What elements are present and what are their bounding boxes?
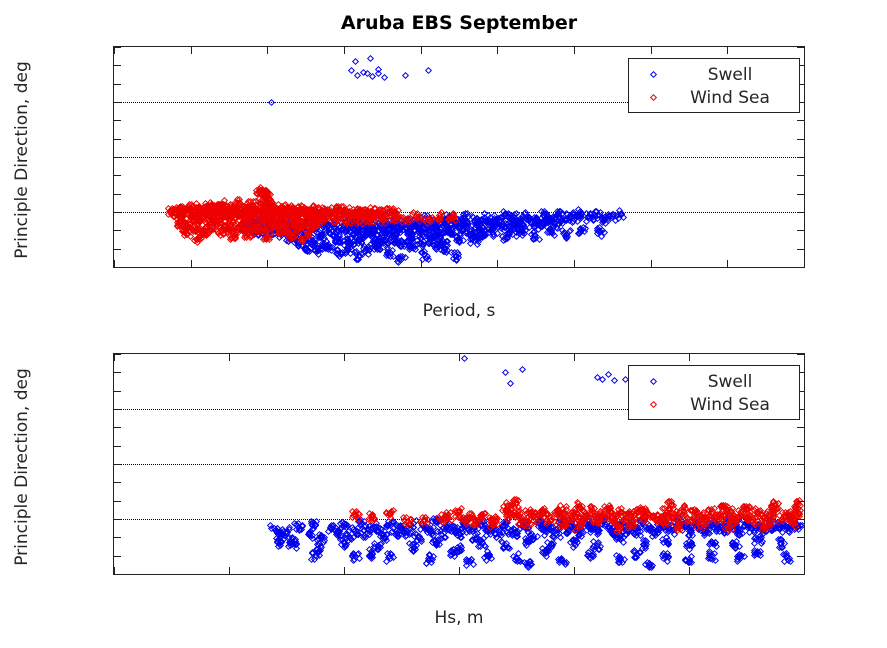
data-point [276, 234, 283, 241]
data-point [641, 541, 648, 548]
data-point [231, 224, 238, 231]
data-point [367, 232, 374, 239]
data-point [308, 241, 315, 248]
data-point [581, 228, 588, 235]
data-point [290, 235, 297, 242]
data-point [478, 216, 485, 223]
data-point [615, 211, 622, 218]
data-point [668, 526, 675, 533]
data-point [199, 214, 206, 221]
data-point [257, 217, 264, 224]
data-point [630, 529, 637, 536]
data-point [674, 518, 681, 525]
data-point [408, 244, 415, 251]
data-point [422, 222, 429, 229]
data-point [590, 216, 597, 223]
data-point [701, 514, 708, 521]
data-point [601, 216, 608, 223]
legend-top[interactable]: Swell Wind Sea [628, 58, 800, 113]
data-point [306, 208, 313, 215]
data-point [545, 544, 552, 551]
data-point [279, 222, 286, 229]
data-point [419, 232, 426, 239]
data-point [504, 516, 511, 523]
data-point [283, 237, 290, 244]
data-point [622, 511, 629, 518]
data-point [457, 230, 464, 237]
data-point [282, 214, 289, 221]
data-point [693, 522, 700, 529]
data-point [605, 510, 612, 517]
data-point [251, 206, 258, 213]
data-point [278, 207, 285, 214]
data-point [310, 238, 317, 245]
data-point [666, 527, 673, 534]
data-point [470, 561, 477, 568]
data-point [372, 244, 379, 251]
data-point [230, 227, 237, 234]
data-point [570, 540, 577, 547]
data-point [395, 237, 402, 244]
data-point [351, 219, 358, 226]
data-point [473, 519, 480, 526]
data-point [236, 196, 243, 203]
data-point [340, 540, 347, 547]
data-point [711, 518, 718, 525]
data-point [608, 529, 615, 536]
data-point [528, 219, 535, 226]
data-point [259, 229, 266, 236]
data-point [334, 532, 341, 539]
data-point [605, 524, 612, 531]
data-point [258, 209, 265, 216]
data-point [362, 208, 369, 215]
data-point [500, 519, 507, 526]
data-point [753, 550, 760, 557]
data-point [724, 522, 731, 529]
data-point [491, 215, 498, 222]
data-point [493, 220, 500, 227]
data-point [593, 518, 600, 525]
data-point [313, 209, 320, 216]
data-point [301, 207, 308, 214]
data-point [445, 225, 452, 232]
data-point [266, 206, 273, 213]
data-point [333, 529, 340, 536]
data-point [609, 524, 616, 531]
data-point [264, 216, 271, 223]
data-point [674, 521, 681, 528]
data-point [450, 526, 457, 533]
data-point [348, 216, 355, 223]
data-point [380, 218, 387, 225]
data-point [706, 530, 713, 537]
data-point [274, 528, 281, 535]
data-point [710, 524, 717, 531]
data-point [516, 507, 523, 514]
data-point [332, 224, 339, 231]
data-point [251, 231, 258, 238]
data-point [204, 202, 211, 209]
data-point [353, 256, 360, 263]
data-point [262, 210, 269, 217]
data-point [588, 526, 595, 533]
data-point [418, 219, 425, 226]
data-point [486, 551, 493, 558]
data-point [712, 511, 719, 518]
data-point [307, 533, 314, 540]
data-point [341, 220, 348, 227]
data-point [654, 521, 661, 528]
data-point [615, 559, 622, 566]
data-point [368, 233, 375, 240]
data-point [404, 529, 411, 536]
data-point [324, 206, 331, 213]
data-point [210, 212, 217, 219]
data-point [580, 528, 587, 535]
data-point [303, 207, 310, 214]
data-point [443, 238, 450, 245]
data-point [501, 212, 508, 219]
data-point [426, 219, 433, 226]
data-point [283, 530, 290, 537]
data-point [404, 239, 411, 246]
data-point [225, 226, 232, 233]
data-point [279, 208, 286, 215]
data-point [270, 210, 277, 217]
data-point [345, 537, 352, 544]
data-point [327, 524, 334, 531]
data-point [485, 226, 492, 233]
data-point [237, 200, 244, 207]
data-point [288, 236, 295, 243]
data-point [613, 212, 620, 219]
data-point [341, 206, 348, 213]
data-point [517, 222, 524, 229]
data-point [348, 235, 355, 242]
data-point [290, 232, 297, 239]
data-point [182, 229, 189, 236]
data-point [268, 232, 275, 239]
data-point [559, 220, 566, 227]
data-point [295, 217, 302, 224]
data-point [184, 224, 191, 231]
data-point [708, 539, 715, 546]
data-point [561, 216, 568, 223]
data-point [321, 213, 328, 220]
data-point [759, 538, 766, 545]
data-point [187, 233, 194, 240]
data-point [544, 539, 551, 546]
data-point [565, 526, 572, 533]
data-point [759, 524, 766, 531]
data-point [409, 220, 416, 227]
data-point [735, 552, 742, 559]
data-point [335, 251, 342, 258]
data-point [345, 246, 352, 253]
data-point [259, 205, 266, 212]
data-point [247, 228, 254, 235]
data-point [204, 214, 211, 221]
data-point [210, 205, 217, 212]
data-point [310, 220, 317, 227]
data-point [565, 529, 572, 536]
data-point [422, 216, 429, 223]
data-point [349, 514, 356, 521]
data-point [386, 221, 393, 228]
data-point [499, 507, 506, 514]
data-point [275, 529, 282, 536]
data-point [375, 546, 382, 553]
data-point [777, 515, 784, 522]
data-point [387, 217, 394, 224]
data-point [434, 528, 441, 535]
data-point [440, 216, 447, 223]
data-point [322, 208, 329, 215]
data-point [608, 528, 615, 535]
data-point [493, 513, 500, 520]
data-point [281, 212, 288, 219]
data-point [547, 218, 554, 225]
data-point [365, 209, 372, 216]
data-point [245, 207, 252, 214]
data-point [417, 219, 424, 226]
data-point [173, 210, 180, 217]
data-point [575, 206, 582, 213]
data-point [291, 214, 298, 221]
data-point [183, 206, 190, 213]
data-point [654, 527, 661, 534]
data-point [294, 218, 301, 225]
data-point [559, 215, 566, 222]
data-point [585, 213, 592, 220]
data-point [262, 213, 269, 220]
data-point [217, 204, 224, 211]
data-point [178, 222, 185, 229]
data-point [235, 213, 242, 220]
data-point [665, 505, 672, 512]
data-point [384, 250, 391, 257]
data-point [426, 215, 433, 222]
data-point [307, 214, 314, 221]
data-point [194, 236, 201, 243]
data-point [539, 508, 546, 515]
data-point [254, 206, 261, 213]
data-point [377, 544, 384, 551]
data-point [295, 211, 302, 218]
data-point [323, 213, 330, 220]
data-point [282, 223, 289, 230]
data-point [212, 209, 219, 216]
data-point [475, 217, 482, 224]
data-point [405, 240, 412, 247]
data-point [298, 230, 305, 237]
data-point [436, 522, 443, 529]
data-point [408, 546, 415, 553]
data-point [594, 228, 601, 235]
data-point [308, 214, 315, 221]
data-point [640, 518, 647, 525]
data-point [483, 219, 490, 226]
data-point [638, 508, 645, 515]
data-point [245, 208, 252, 215]
data-point [729, 540, 736, 547]
data-point [415, 221, 422, 228]
data-point [410, 548, 417, 555]
data-point [548, 527, 555, 534]
data-point [716, 516, 723, 523]
y-tick-0 [114, 267, 121, 268]
data-point [278, 232, 285, 239]
data-point [665, 525, 672, 532]
data-point [372, 213, 379, 220]
data-point [602, 511, 609, 518]
data-point [341, 216, 348, 223]
data-point [754, 521, 761, 528]
data-point [579, 516, 586, 523]
data-point [595, 546, 602, 553]
data-point [588, 505, 595, 512]
data-point [472, 536, 479, 543]
data-point [233, 220, 240, 227]
data-point [370, 230, 377, 237]
data-point [454, 236, 461, 243]
data-point [329, 525, 336, 532]
data-point [331, 232, 338, 239]
data-point [789, 520, 796, 527]
data-point [384, 223, 391, 230]
data-point [361, 523, 368, 530]
data-point [544, 512, 551, 519]
data-point [244, 203, 251, 210]
data-point [426, 551, 433, 558]
data-point [268, 216, 275, 223]
data-point [524, 537, 531, 544]
data-point [499, 221, 506, 228]
data-point [593, 515, 600, 522]
data-point [213, 226, 220, 233]
data-point [233, 210, 240, 217]
data-point [233, 200, 240, 207]
data-point [294, 210, 301, 217]
data-point [237, 208, 244, 215]
data-point [304, 206, 311, 213]
data-point [332, 238, 339, 245]
data-point [599, 511, 606, 518]
data-point [622, 523, 629, 530]
data-point [395, 528, 402, 535]
data-point [283, 221, 290, 228]
data-point [249, 203, 256, 210]
data-point [794, 524, 801, 531]
data-point [314, 546, 321, 553]
data-point [502, 523, 509, 530]
data-point [207, 225, 214, 232]
data-point [291, 218, 298, 225]
data-point [515, 550, 522, 557]
data-point [342, 543, 349, 550]
data-point [576, 230, 583, 237]
data-point [550, 224, 557, 231]
data-point [547, 515, 554, 522]
data-point [639, 541, 646, 548]
data-point [691, 511, 698, 518]
data-point [617, 520, 624, 527]
data-point [505, 544, 512, 551]
data-point [510, 222, 517, 229]
data-point [188, 214, 195, 221]
data-point [475, 238, 482, 245]
data-point [694, 526, 701, 533]
data-point [290, 230, 297, 237]
data-point [298, 208, 305, 215]
data-point [756, 523, 763, 530]
data-point [444, 521, 451, 528]
data-point [338, 227, 345, 234]
data-point [369, 230, 376, 237]
data-point [522, 215, 529, 222]
data-point [464, 210, 471, 217]
data-point [554, 506, 561, 513]
data-point [263, 223, 270, 230]
data-point [337, 218, 344, 225]
data-point [265, 226, 272, 233]
data-point [556, 524, 563, 531]
data-point [557, 208, 564, 215]
data-point [476, 539, 483, 546]
data-point [292, 205, 299, 212]
data-point [595, 528, 602, 535]
data-point [390, 222, 397, 229]
data-point [294, 524, 301, 531]
data-point [660, 519, 667, 526]
data-point [546, 226, 553, 233]
data-point [383, 218, 390, 225]
data-point [751, 529, 758, 536]
data-point [368, 515, 375, 522]
data-point [542, 550, 549, 557]
data-point [426, 218, 433, 225]
data-point [342, 215, 349, 222]
data-point [375, 524, 382, 531]
data-point [432, 244, 439, 251]
data-point [196, 233, 203, 240]
data-point [293, 545, 300, 552]
data-point [428, 527, 435, 534]
data-point [361, 518, 368, 525]
data-point [786, 524, 793, 531]
data-point [438, 239, 445, 246]
data-point [298, 224, 305, 231]
data-point [642, 537, 649, 544]
data-point [424, 525, 431, 532]
data-point [705, 519, 712, 526]
data-point [276, 221, 283, 228]
data-point [501, 542, 508, 549]
data-point [285, 543, 292, 550]
data-point [682, 523, 689, 530]
data-point [307, 207, 314, 214]
data-point [216, 210, 223, 217]
data-point [444, 225, 451, 232]
data-point [577, 225, 584, 232]
data-point [257, 224, 264, 231]
data-point [212, 221, 219, 228]
data-point [395, 255, 402, 262]
data-point [460, 222, 467, 229]
data-point [191, 225, 198, 232]
data-point [271, 217, 278, 224]
